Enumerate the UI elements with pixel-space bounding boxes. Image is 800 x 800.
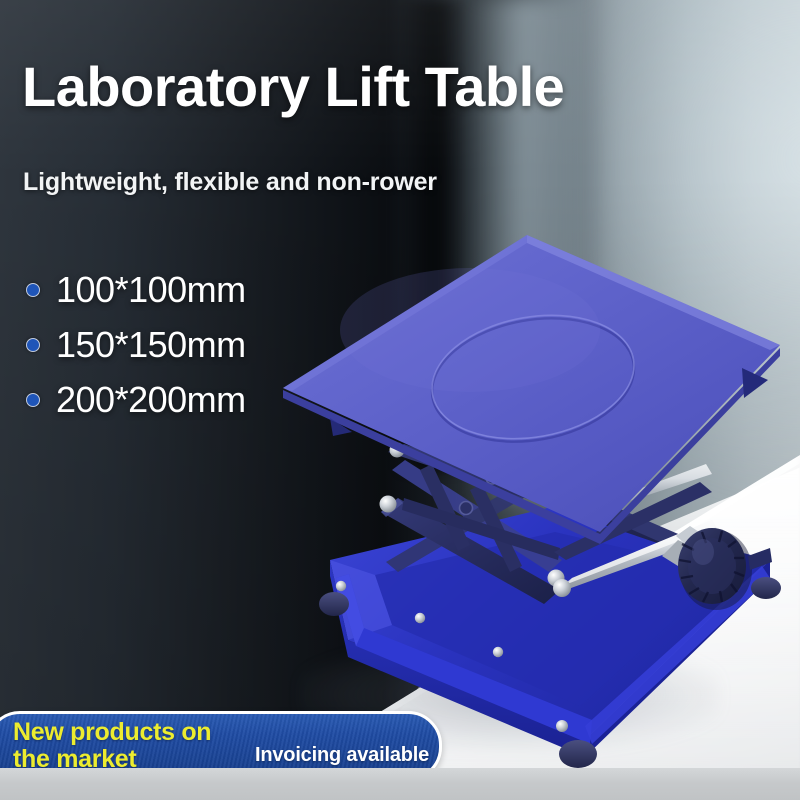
page-subtitle: Lightweight, flexible and non-rower: [23, 168, 437, 197]
new-products-label: New products on the market: [13, 719, 211, 772]
bullet-dot-icon: [26, 393, 40, 407]
list-item: 200*200mm: [26, 372, 246, 427]
spec-list: 100*100mm 150*150mm 200*200mm: [26, 262, 246, 427]
spec-size-label: 100*100mm: [56, 269, 246, 311]
spec-size-label: 200*200mm: [56, 379, 246, 421]
page-title: Laboratory Lift Table: [22, 58, 564, 117]
bullet-dot-icon: [26, 338, 40, 352]
list-item: 150*150mm: [26, 317, 246, 372]
bottom-strip: [0, 768, 800, 800]
new-products-line1: New products on: [13, 719, 211, 746]
invoicing-available-label: Invoicing available: [255, 744, 429, 767]
bullet-dot-icon: [26, 283, 40, 297]
spec-size-label: 150*150mm: [56, 324, 246, 366]
product-poster: Laboratory Lift Table Lightweight, flexi…: [0, 0, 800, 800]
list-item: 100*100mm: [26, 262, 246, 317]
